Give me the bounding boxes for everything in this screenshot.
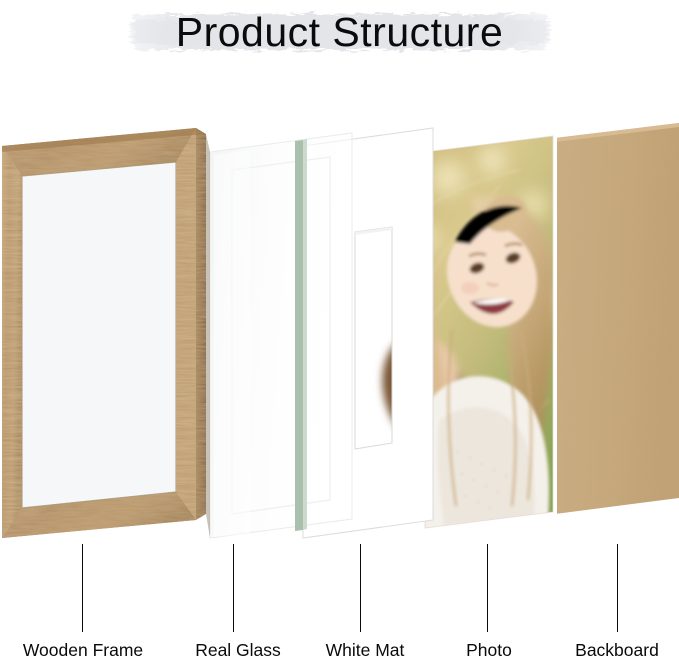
label-backboard: Backboard — [547, 640, 679, 661]
layer-backboard — [553, 123, 679, 514]
label-wooden-frame: Wooden Frame — [0, 640, 166, 661]
layer-wooden-frame — [2, 128, 210, 538]
label-photo: Photo — [434, 640, 544, 661]
exploded-view-diagram — [0, 0, 679, 560]
leader-line-white-mat — [360, 544, 361, 632]
leader-line-backboard — [617, 544, 618, 632]
leader-line-real-glass — [233, 544, 234, 632]
leader-line-wooden-frame — [82, 544, 83, 632]
layer-real-glass — [210, 133, 352, 538]
label-white-mat: White Mat — [300, 640, 430, 661]
label-real-glass: Real Glass — [168, 640, 308, 661]
leader-line-photo — [487, 544, 488, 632]
